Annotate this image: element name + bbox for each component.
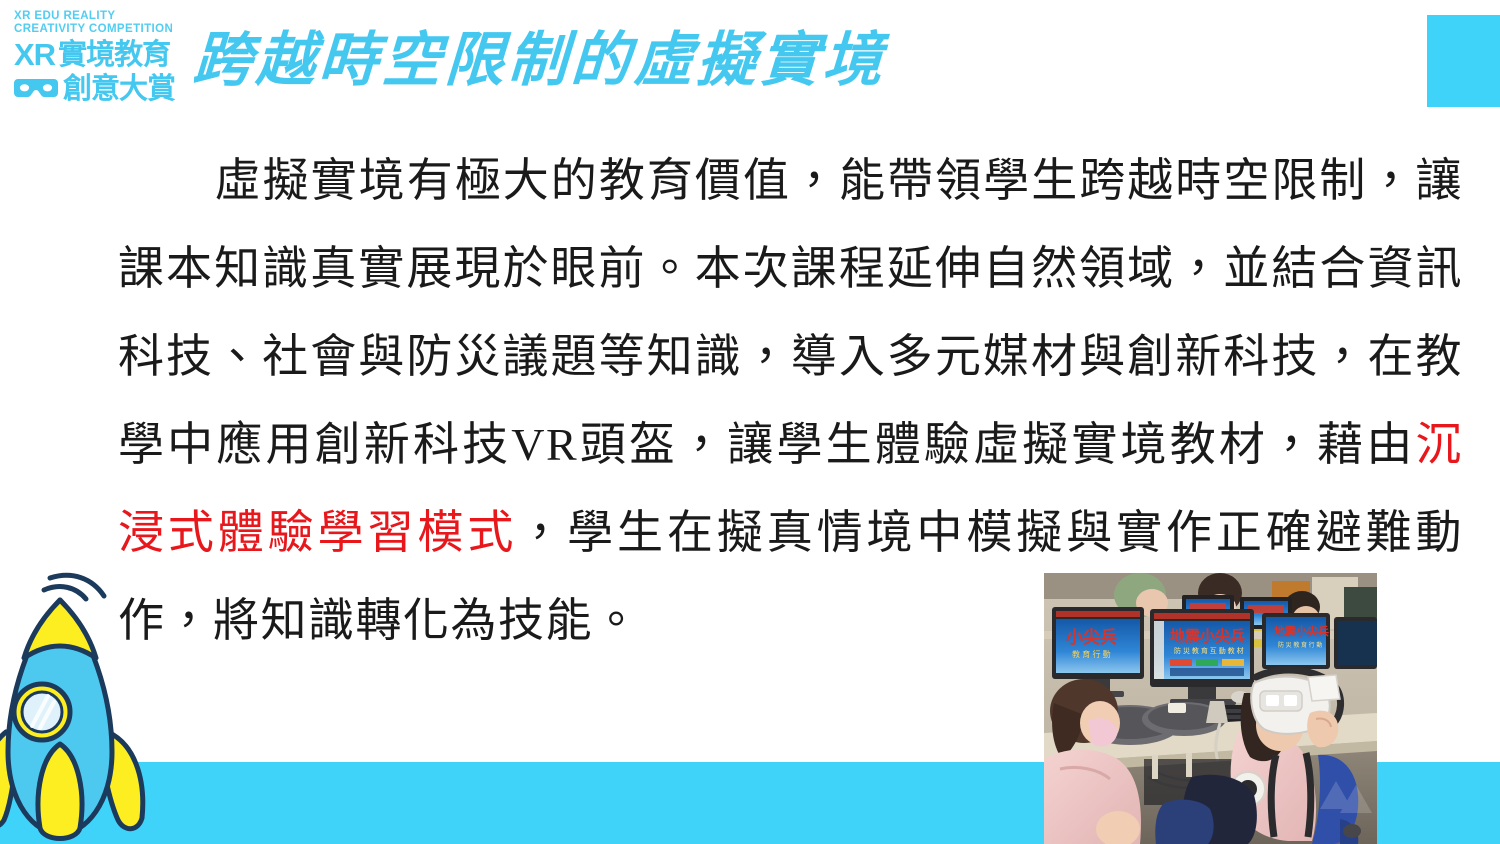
logo-tagline-line1: XR EDU REALITY [14, 10, 190, 23]
svg-text:防 災 教 育 行 動: 防 災 教 育 行 動 [1278, 641, 1322, 649]
logo-wordmark-row-bottom: 創意大賞 [14, 74, 190, 104]
vr-goggles-icon [14, 77, 58, 101]
cyan-corner-block [1427, 15, 1500, 107]
monitor-screen-caption: 地震小尖兵 [1170, 627, 1245, 645]
logo-wordmark-cn-bottom: 創意大賞 [63, 74, 175, 104]
logo-tagline-line2: CREATIVITY COMPETITION [14, 23, 190, 36]
svg-text:地震小尖兵: 地震小尖兵 [1274, 624, 1329, 638]
slide-canvas: XR EDU REALITY CREATIVITY COMPETITION XR… [0, 0, 1500, 844]
paragraph-segment-1: 虛擬實境有極大的教育價值，能帶領學生跨越時空限制，讓課本知識真實展現於眼前。本次… [118, 155, 1463, 470]
classroom-vr-photo: 小尖兵 教 育 行 動 地震小尖兵 防 災 教 育 互 動 教 材 地震小尖兵 … [1044, 573, 1377, 844]
svg-text:小尖兵: 小尖兵 [1066, 627, 1117, 647]
logo-wordmark-en: XR [14, 39, 55, 70]
svg-text:防 災 教 育 互 動 教 材: 防 災 教 育 互 動 教 材 [1174, 646, 1244, 655]
logo-wordmark-row-top: XR 實境教育 [14, 39, 190, 70]
svg-text:教 育 行 動: 教 育 行 動 [1072, 649, 1111, 659]
brand-logo: XR EDU REALITY CREATIVITY COMPETITION XR… [14, 10, 190, 118]
page-title: 跨越時空限制的虛擬實境 [191, 28, 887, 92]
logo-wordmark-cn-top: 實境教育 [58, 40, 170, 70]
rocket-illustration [0, 566, 192, 844]
